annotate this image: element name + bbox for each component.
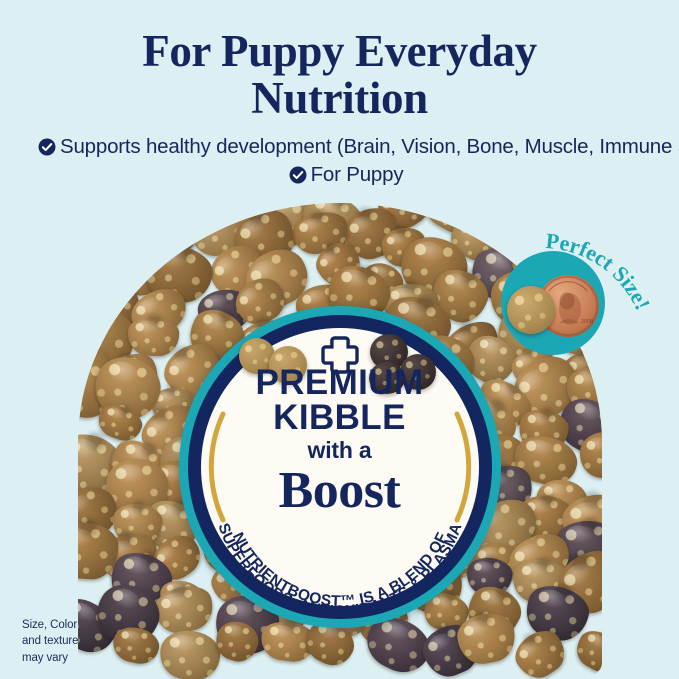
premium-kibble-badge: NUTRIENTBOOST™ IS A BLEND OF SUPERFOODS,… — [179, 306, 501, 628]
kibble-notch — [78, 519, 97, 537]
kibble-notch — [165, 385, 178, 396]
badge-text-block: PREMIUM KIBBLE with a Boost — [179, 366, 501, 515]
badge-title-line-2: KIBBLE — [179, 401, 501, 436]
kibble-notch — [450, 203, 469, 205]
kibble-notch — [472, 220, 488, 235]
kibble-piece — [157, 627, 224, 679]
arc-bottom-text: SUPERFOODS, ANTIOXIDANTS & PLASMA — [214, 521, 465, 620]
svg-text:Perfect Size!: Perfect Size! — [545, 228, 656, 314]
headline-line-1: For Puppy Everyday — [0, 28, 679, 75]
disclaimer-line-2: and texture — [22, 633, 78, 649]
kibble-notch — [539, 407, 555, 422]
kibble-notch — [535, 556, 552, 570]
kibble-notch — [356, 205, 375, 224]
svg-text:SUPERFOODS, ANTIOXIDANTS & PLA: SUPERFOODS, ANTIOXIDANTS & PLASMA — [214, 521, 465, 620]
headline-line-2: Nutrition — [0, 75, 679, 122]
kibble-notch — [599, 630, 602, 646]
kibble-piece — [127, 315, 180, 356]
benefit-label-2: For Puppy — [311, 163, 404, 186]
kibble-notch — [90, 305, 109, 324]
kibble-notch — [403, 281, 418, 293]
perfect-size-label: Perfect Size! — [493, 214, 679, 354]
kibble-piece — [110, 623, 163, 668]
disclaimer-note: Size, Color and texture may vary — [22, 617, 78, 666]
benefit-label-1: Supports healthy development (Brain, Vis… — [60, 135, 679, 158]
disclaimer-line-1: Size, Color — [22, 617, 78, 633]
kibble-notch — [521, 631, 540, 649]
kibble-notch — [395, 225, 409, 238]
svg-text:NUTRIENTBOOST™ IS A BLEND OF: NUTRIENTBOOST™ IS A BLEND OF — [228, 530, 450, 610]
arc-top-text: NUTRIENTBOOST™ IS A BLEND OF — [228, 530, 450, 610]
badge-boost-word: Boost — [179, 466, 501, 515]
benefit-item-1: Supports healthy development (Brain, Vis… — [38, 135, 679, 158]
kibble-notch — [246, 206, 267, 227]
kibble-notch — [587, 363, 602, 376]
perfect-size-text: Perfect Size! — [545, 228, 656, 314]
benefit-list: Supports healthy development (Brain, Vis… — [38, 133, 641, 189]
kibble-notch — [132, 500, 147, 513]
product-infographic: For Puppy Everyday Nutrition Supports he… — [0, 0, 679, 679]
kibble-notch — [580, 517, 599, 534]
perfect-size-callout: 2008 Perfect Size! — [493, 214, 679, 354]
check-circle-icon — [38, 136, 56, 154]
badge-title-line-1: PREMIUM — [179, 366, 501, 401]
benefit-item-2: For Puppy — [289, 163, 404, 186]
check-circle-icon — [289, 164, 307, 182]
page-title: For Puppy Everyday Nutrition — [0, 28, 679, 122]
kibble-notch — [329, 203, 350, 211]
disclaimer-line-3: may vary — [22, 650, 78, 666]
